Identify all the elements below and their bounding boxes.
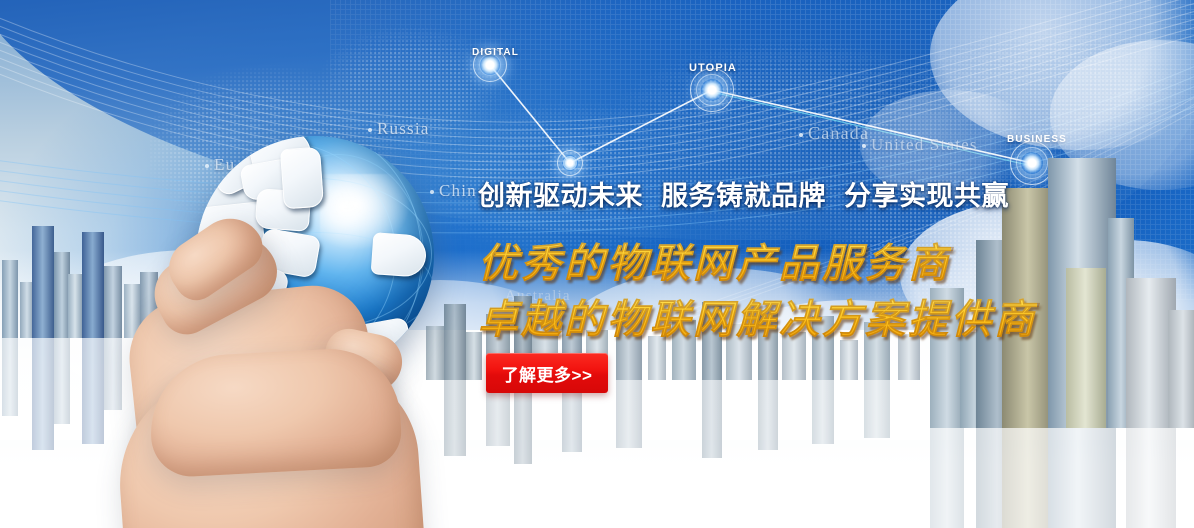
node-core-glow xyxy=(562,155,578,171)
building-reflection xyxy=(104,338,122,410)
building xyxy=(1168,310,1194,428)
building-reflection xyxy=(616,380,642,448)
building-reflection xyxy=(32,338,54,450)
cityscape-left xyxy=(0,178,160,338)
puzzle-piece xyxy=(371,232,428,278)
map-label-dot xyxy=(799,133,803,137)
puzzle-piece xyxy=(280,147,324,210)
map-label-dot xyxy=(862,144,866,148)
building xyxy=(840,340,858,380)
building-reflection xyxy=(444,380,466,456)
map-label-canada: Canada xyxy=(799,123,869,144)
cityscape-right-reflection xyxy=(920,428,1194,528)
building-reflection xyxy=(812,380,834,444)
headline-part-1: 创新驱动未来 xyxy=(478,181,643,211)
cityscape-center-reflection xyxy=(420,380,940,470)
building xyxy=(32,226,54,338)
network-node-unlabeled xyxy=(557,150,583,176)
building-reflection xyxy=(864,380,890,438)
building-reflection xyxy=(54,338,70,424)
hero-banner: DIGITAL UTOPIA BUSINESS Russia Eu Chin C… xyxy=(0,0,1194,528)
cityscape-right xyxy=(920,128,1194,428)
map-label-dot xyxy=(368,128,372,132)
building xyxy=(444,304,466,380)
building xyxy=(68,274,82,338)
headline-part-2: 服务铸就品牌 xyxy=(661,181,826,211)
network-node-label-utopia: UTOPIA xyxy=(689,62,737,74)
building-reflection xyxy=(702,380,722,458)
learn-more-button[interactable]: 了解更多>> xyxy=(486,353,608,393)
building-reflection xyxy=(2,338,18,416)
building xyxy=(82,232,104,338)
page-title: 创新驱动未来服务铸就品牌分享实现共赢 xyxy=(478,174,1009,213)
network-node-label-digital: DIGITAL xyxy=(472,47,519,58)
building-reflection xyxy=(1126,428,1176,528)
map-label-text: Canada xyxy=(808,123,869,143)
node-core-glow xyxy=(701,79,723,101)
slogan-line-1: 优秀的物联网产品服务商 xyxy=(478,231,951,289)
building-reflection xyxy=(82,338,104,444)
building xyxy=(2,260,18,338)
building-reflection xyxy=(758,380,778,450)
slogan-line-2: 卓越的物联网解决方案提供商 xyxy=(478,287,1037,345)
network-node-utopia xyxy=(690,68,734,112)
building-reflection xyxy=(1048,428,1116,528)
headline-part-3: 分享实现共赢 xyxy=(844,181,1009,211)
building xyxy=(104,266,122,338)
building xyxy=(1066,268,1106,428)
